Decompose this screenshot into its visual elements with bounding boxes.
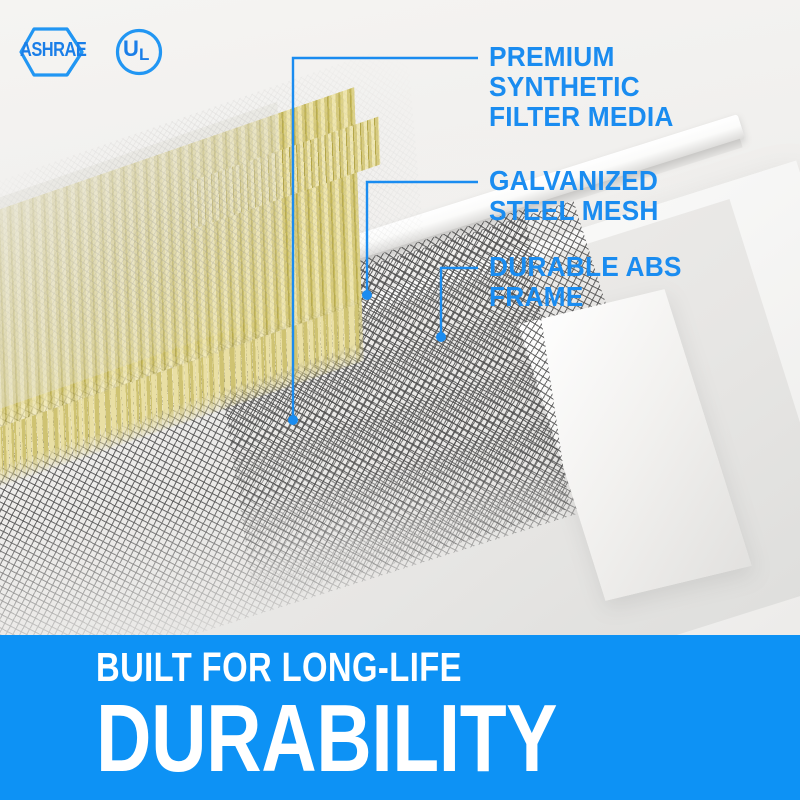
callout-label-3: DURABLE ABS FRAME [489,252,682,312]
ul-badge-letter-u: U [123,38,139,60]
callout-galvanized-steel-mesh: GALVANIZED STEEL MESH [489,166,669,226]
banner-line-2: DURABILITY [96,691,557,787]
callout-label-2: GALVANIZED STEEL MESH [489,166,659,226]
callout-durable-abs-frame: DURABLE ABS FRAME [489,252,694,312]
certification-badges: ASHRAE U L [18,26,164,78]
callout-premium-synthetic-filter-media: PREMIUM SYNTHETIC FILTER MEDIA [489,42,685,132]
infographic-canvas: ASHRAE U L PREMIUM SYNTHETIC FILTER MEDI… [0,0,800,800]
banner-line-1: BUILT FOR LONG-LIFE [96,647,462,688]
callout-label-1: PREMIUM SYNTHETIC FILTER MEDIA [489,42,674,132]
ul-badge: U L [114,27,164,77]
ul-badge-letter-l: L [139,46,149,63]
ashrae-badge-label: ASHRAE [20,39,69,62]
ashrae-badge: ASHRAE [18,26,92,78]
bottom-banner: BUILT FOR LONG-LIFE DURABILITY [0,635,800,800]
